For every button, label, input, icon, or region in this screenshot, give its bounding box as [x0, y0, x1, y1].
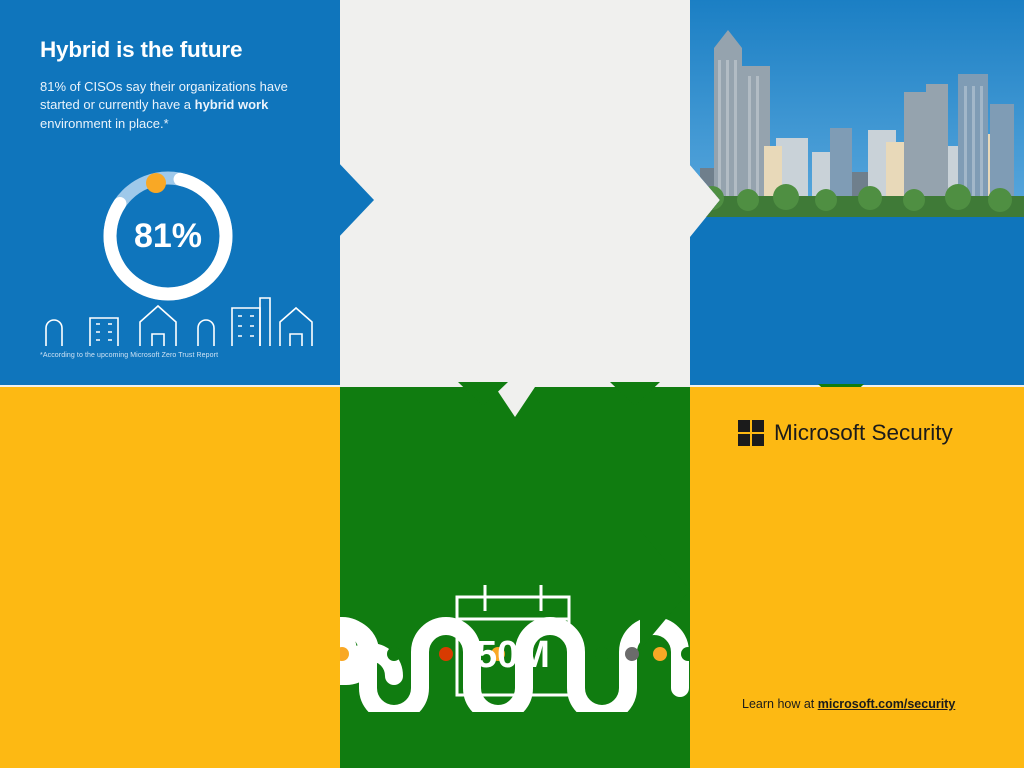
microsoft-security-brand: Microsoft Security [738, 420, 953, 446]
panel-hybrid-body-post: environment in place.* [40, 116, 169, 131]
panel-hybrid-footnote: *According to the upcoming Microsoft Zer… [40, 352, 320, 359]
microsoft-security-link[interactable]: microsoft.com/security [818, 697, 956, 711]
panel-hybrid-body-bold: hybrid work [195, 97, 269, 112]
wave-dot-yellow-icon [653, 647, 667, 661]
panel-hybrid-body: 81% of CISOs say their organizations hav… [40, 78, 298, 133]
infographic-canvas: Hybrid is the future 81% of CISOs say th… [0, 0, 1024, 768]
microsoft-logo-icon [738, 420, 764, 446]
city-skyline-photo [690, 0, 1024, 217]
panel-anticipate-challenges: Anticipate challenges The industry is fa… [0, 387, 340, 768]
wave-dot-green-icon [595, 647, 609, 661]
panel-hybrid-headline: Hybrid is the future [40, 37, 242, 63]
learn-more-row: Learn how at microsoft.com/security [742, 697, 955, 711]
detect-stat-value: 50M [453, 630, 573, 680]
wave-dot-red-icon [439, 647, 453, 661]
microsoft-security-wordmark: Microsoft Security [774, 420, 953, 446]
wave-dot-green-icon [387, 647, 401, 661]
wave-dot-gray-icon [625, 647, 639, 661]
donut-stat-value: 81% [98, 166, 238, 306]
learn-link-prefix: Learn how at [742, 697, 818, 711]
panel-networks-are-shifting: Networks are shifting The growing sophis… [690, 0, 1024, 385]
panel-communication-is-at-a-high: Communication is at a high Since the pan… [340, 0, 690, 385]
